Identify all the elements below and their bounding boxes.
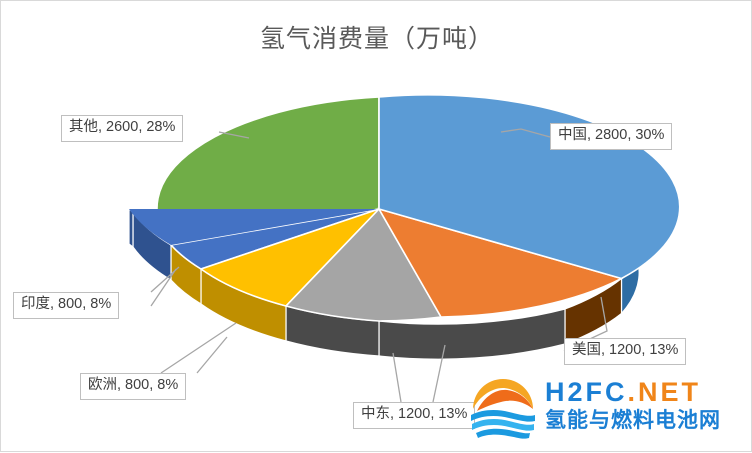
logo-wave-3 [476,429,530,439]
logo-brand-cn: 氢能与燃料电池网 [545,407,745,434]
data-label-mideast[interactable]: 中东, 1200, 13% [353,402,475,429]
data-label-other[interactable]: 其他, 2600, 28% [61,115,183,142]
logo-brand-net: NET [638,377,701,407]
site-watermark-logo: H2FC.NET 氢能与燃料电池网 [467,373,745,447]
slice-side-india-left [129,209,133,247]
h2fc-logo-icon [467,375,539,443]
logo-brand-line: H2FC.NET [545,377,745,407]
logo-brand-dot: . [628,377,639,407]
logo-brand-h2fc: H2FC [545,377,628,407]
leader-line-europe [161,323,236,373]
data-label-china[interactable]: 中国, 2800, 30% [550,123,672,150]
data-label-usa[interactable]: 美国, 1200, 13% [564,338,686,365]
data-label-india[interactable]: 印度, 800, 8% [13,292,119,319]
chart-container: 氢气消费量（万吨） [0,0,752,452]
data-label-europe[interactable]: 欧洲, 800, 8% [80,373,186,400]
h2fc-logo-text: H2FC.NET 氢能与燃料电池网 [545,377,745,443]
